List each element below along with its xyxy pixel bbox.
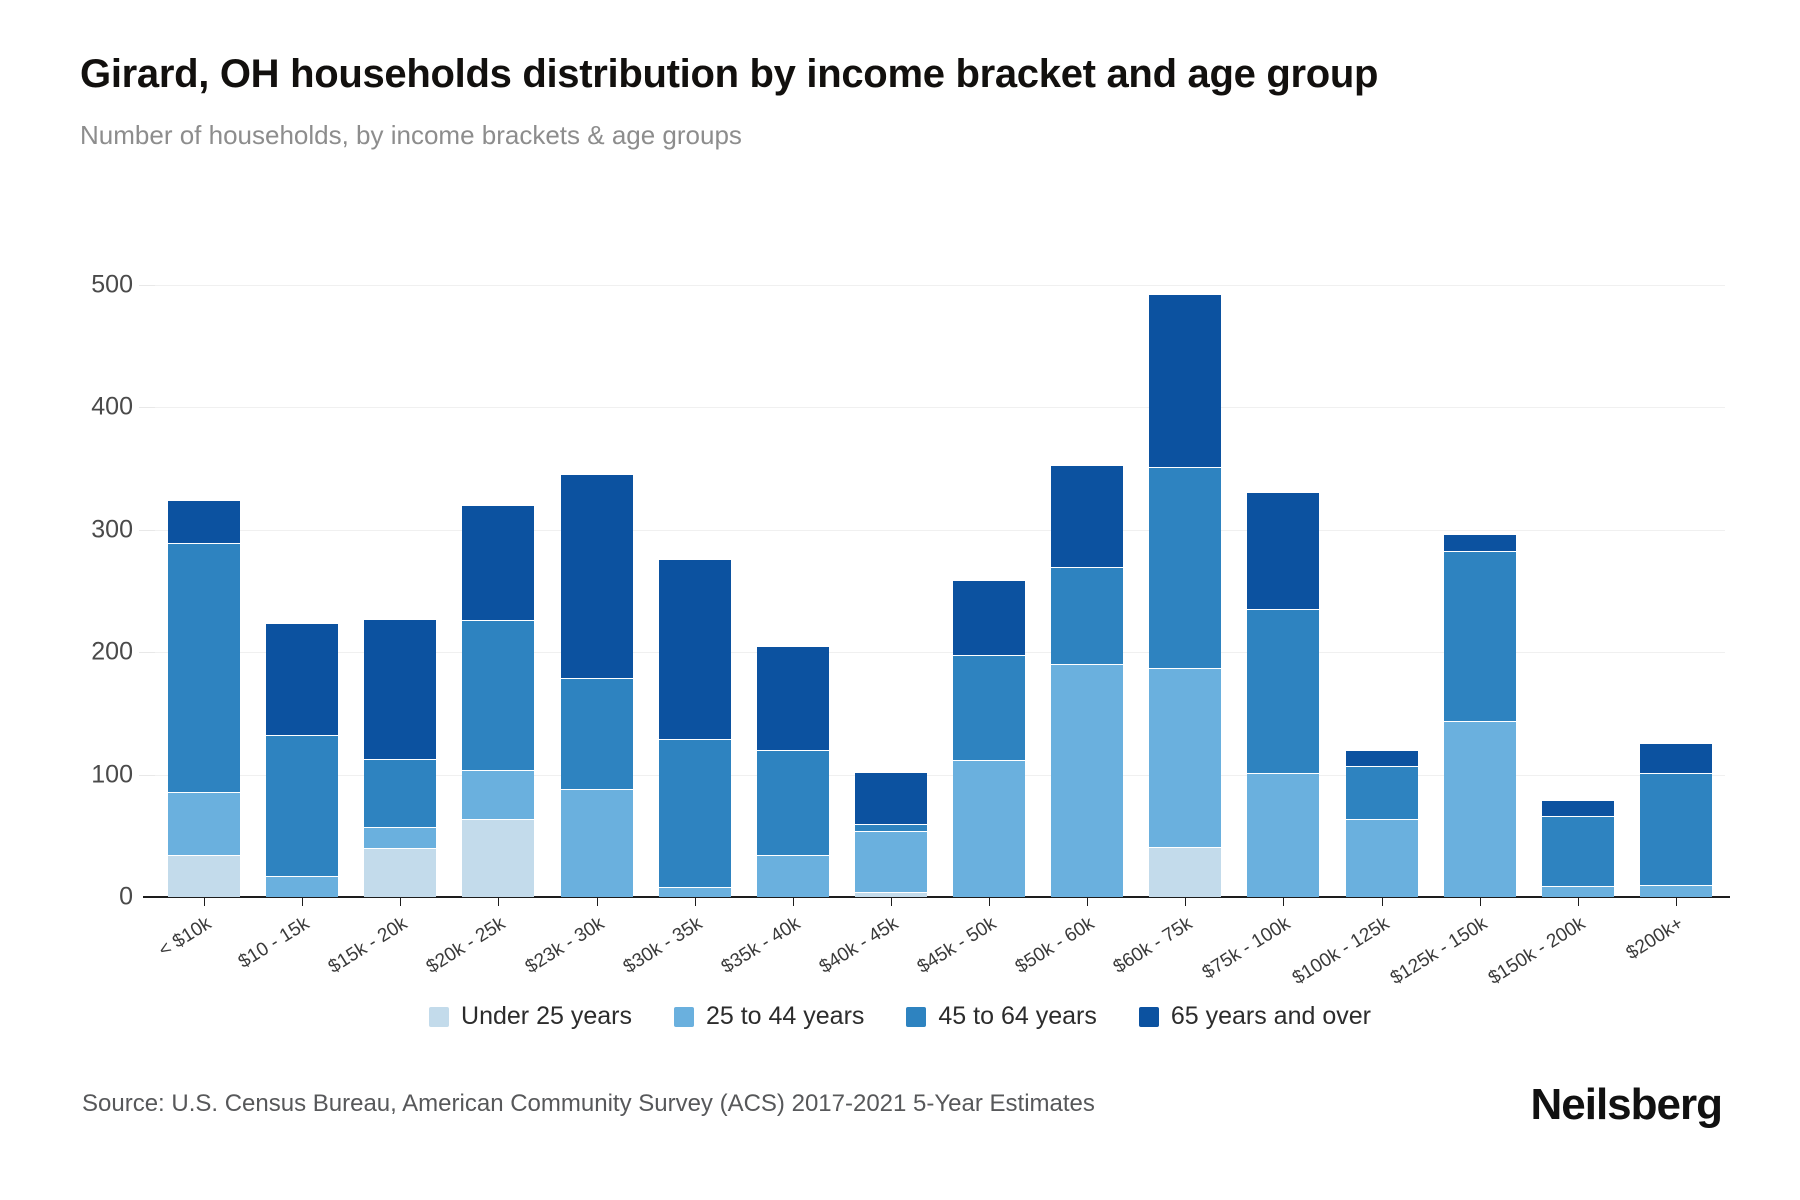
bar-segment[interactable] (561, 474, 633, 678)
x-axis-tick-label: $10 - 15k (235, 913, 314, 974)
x-axis-tick-label: $75k - 100k (1199, 913, 1295, 984)
bar-group[interactable]: $125k - 150k (1431, 285, 1529, 897)
legend-swatch-icon (906, 1007, 926, 1027)
bar-group[interactable]: $200k+ (1627, 285, 1725, 897)
x-axis-tick (498, 897, 499, 906)
bar-segment[interactable] (168, 500, 240, 543)
stacked-bar[interactable] (1247, 492, 1319, 897)
bar-segment[interactable] (1051, 664, 1123, 897)
bar-group[interactable]: $40k - 45k (842, 285, 940, 897)
stacked-bar[interactable] (659, 559, 731, 897)
bar-segment[interactable] (1346, 750, 1418, 766)
bar-group[interactable]: $15k - 20k (351, 285, 449, 897)
bar-group[interactable]: $50k - 60k (1038, 285, 1136, 897)
bar-segment[interactable] (561, 789, 633, 897)
bar-segment[interactable] (1149, 668, 1221, 847)
gridline-stub (139, 775, 155, 776)
bar-segment[interactable] (1149, 467, 1221, 668)
legend-item-label: 65 years and over (1171, 1002, 1371, 1031)
y-axis-tick-label: 400 (91, 393, 133, 422)
bar-segment[interactable] (1051, 465, 1123, 567)
chart-page: Girard, OH households distribution by in… (0, 0, 1800, 1200)
bar-group[interactable]: $45k - 50k (940, 285, 1038, 897)
bar-segment[interactable] (1542, 816, 1614, 886)
bar-segment[interactable] (1640, 773, 1712, 884)
y-axis-tick-label: 500 (91, 271, 133, 300)
legend-item[interactable]: 45 to 64 years (906, 1002, 1096, 1031)
bar-segment[interactable] (462, 770, 534, 819)
bar-segment[interactable] (1247, 492, 1319, 610)
page-subtitle: Number of households, by income brackets… (80, 120, 742, 151)
bar-segment[interactable] (659, 739, 731, 887)
bar-segment[interactable] (757, 855, 829, 897)
legend-item-label: 25 to 44 years (706, 1002, 864, 1031)
bar-segment[interactable] (364, 619, 436, 759)
bar-segment[interactable] (855, 831, 927, 892)
stacked-bar[interactable] (1051, 465, 1123, 897)
x-axis-tick (1480, 897, 1481, 906)
x-axis-tick (989, 897, 990, 906)
bar-segment[interactable] (1346, 766, 1418, 819)
bar-segment[interactable] (266, 735, 338, 876)
stacked-bar[interactable] (364, 619, 436, 897)
bar-segment[interactable] (757, 750, 829, 855)
x-axis-tick-label: $20k - 25k (423, 913, 510, 979)
x-axis-tick-label: $125k - 150k (1387, 913, 1492, 990)
bar-group[interactable]: $60k - 75k (1136, 285, 1234, 897)
bar-segment[interactable] (1247, 773, 1319, 897)
bar-segment[interactable] (953, 580, 1025, 655)
gridline-stub (139, 285, 155, 286)
x-axis-tick-label: $50k - 60k (1012, 913, 1099, 979)
y-axis-tick-label: 100 (91, 760, 133, 789)
bar-segment[interactable] (462, 620, 534, 769)
legend-item-label: Under 25 years (461, 1002, 632, 1031)
bar-group[interactable]: $20k - 25k (449, 285, 547, 897)
page-title: Girard, OH households distribution by in… (80, 52, 1378, 97)
legend-item[interactable]: 25 to 44 years (674, 1002, 864, 1031)
stacked-bar[interactable] (855, 772, 927, 897)
bar-group[interactable]: $150k - 200k (1529, 285, 1627, 897)
source-note: Source: U.S. Census Bureau, American Com… (82, 1090, 1095, 1118)
bar-segment[interactable] (168, 792, 240, 856)
stacked-bar[interactable] (953, 580, 1025, 897)
legend-swatch-icon (429, 1007, 449, 1027)
stacked-bar[interactable] (1640, 743, 1712, 897)
bar-segment[interactable] (855, 824, 927, 831)
x-axis-tick (1578, 897, 1579, 906)
bar-segment[interactable] (1640, 885, 1712, 897)
bar-segment[interactable] (561, 678, 633, 789)
x-axis-tick (695, 897, 696, 906)
gridline-stub (139, 652, 155, 653)
bar-segment[interactable] (1542, 886, 1614, 897)
x-axis-tick-label: $200k+ (1623, 913, 1688, 965)
x-axis-tick-label: $40k - 45k (816, 913, 903, 979)
x-axis-tick (1087, 897, 1088, 906)
bar-segment[interactable] (266, 876, 338, 897)
bar-segment[interactable] (659, 887, 731, 897)
legend-swatch-icon (674, 1007, 694, 1027)
bar-segment[interactable] (364, 759, 436, 828)
legend-item[interactable]: Under 25 years (429, 1002, 632, 1031)
bar-group[interactable]: $35k - 40k (744, 285, 842, 897)
bar-group[interactable]: $30k - 35k (646, 285, 744, 897)
x-axis-tick (302, 897, 303, 906)
stacked-bar[interactable] (462, 505, 534, 897)
x-axis-tick (1676, 897, 1677, 906)
bar-segment[interactable] (1051, 567, 1123, 665)
y-axis-tick-label: 300 (91, 515, 133, 544)
bar-segment[interactable] (1542, 800, 1614, 816)
bar-group[interactable]: $10 - 15k (253, 285, 351, 897)
x-axis-tick (400, 897, 401, 906)
x-axis-tick (204, 897, 205, 906)
y-axis-tick-label: 0 (119, 883, 133, 912)
bar-segment[interactable] (1247, 609, 1319, 773)
legend-swatch-icon (1139, 1007, 1159, 1027)
bar-group[interactable]: < $10k (155, 285, 253, 897)
x-axis-tick-label: $100k - 125k (1288, 913, 1393, 990)
bar-segment[interactable] (1149, 847, 1221, 897)
bar-segment[interactable] (953, 655, 1025, 760)
plot-area: 0100200300400500 < $10k$10 - 15k$15k - 2… (155, 285, 1725, 897)
bar-segment[interactable] (266, 623, 338, 736)
x-axis-tick-label: $30k - 35k (619, 913, 706, 979)
gridline-stub (139, 530, 155, 531)
bar-segment[interactable] (462, 505, 534, 620)
bar-segment[interactable] (1444, 551, 1516, 721)
stacked-bar[interactable] (266, 623, 338, 897)
bar-group[interactable]: $23k - 30k (548, 285, 646, 897)
legend-item[interactable]: 65 years and over (1139, 1002, 1371, 1031)
chart-legend: Under 25 years25 to 44 years45 to 64 yea… (0, 1002, 1800, 1031)
bar-group[interactable]: $100k - 125k (1333, 285, 1431, 897)
bar-segment[interactable] (855, 772, 927, 823)
bar-segment[interactable] (1444, 721, 1516, 897)
bar-segment[interactable] (1444, 534, 1516, 551)
bar-segment[interactable] (1640, 743, 1712, 774)
bar-segment[interactable] (168, 543, 240, 791)
x-axis-tick (793, 897, 794, 906)
bar-segment[interactable] (364, 848, 436, 897)
stacked-bar[interactable] (1346, 750, 1418, 897)
bar-segment[interactable] (462, 819, 534, 897)
bar-segment[interactable] (659, 559, 731, 739)
bar-segment[interactable] (364, 827, 436, 848)
stacked-bar[interactable] (561, 474, 633, 897)
bar-segment[interactable] (757, 646, 829, 750)
x-axis-tick-label: $23k - 30k (521, 913, 608, 979)
stacked-bar[interactable] (757, 646, 829, 897)
bar-segment[interactable] (1346, 819, 1418, 897)
stacked-bar[interactable] (1444, 534, 1516, 898)
bar-segment[interactable] (168, 855, 240, 897)
brand-logo: Neilsberg (1530, 1080, 1722, 1130)
x-axis-tick-label: $150k - 200k (1485, 913, 1590, 990)
stacked-bar[interactable] (168, 500, 240, 897)
x-axis-tick (891, 897, 892, 906)
x-axis-tick (1382, 897, 1383, 906)
x-axis-tick (597, 897, 598, 906)
stacked-bar[interactable] (1149, 294, 1221, 897)
legend-item-label: 45 to 64 years (938, 1002, 1096, 1031)
bar-group[interactable]: $75k - 100k (1234, 285, 1332, 897)
gridline-stub (139, 407, 155, 408)
x-axis-tick (1283, 897, 1284, 906)
x-axis-tick-label: $45k - 50k (914, 913, 1001, 979)
bar-segment[interactable] (1149, 294, 1221, 468)
y-axis-tick-label: 200 (91, 638, 133, 667)
x-axis-tick-label: < $10k (155, 913, 215, 962)
bar-series-container: < $10k$10 - 15k$15k - 20k$20k - 25k$23k … (155, 285, 1725, 897)
x-axis-tick (1185, 897, 1186, 906)
x-axis-tick-label: $35k - 40k (718, 913, 805, 979)
x-axis-tick-label: $60k - 75k (1110, 913, 1197, 979)
stacked-bar[interactable] (1542, 800, 1614, 897)
x-axis-tick-label: $15k - 20k (325, 913, 412, 979)
bar-segment[interactable] (953, 760, 1025, 897)
